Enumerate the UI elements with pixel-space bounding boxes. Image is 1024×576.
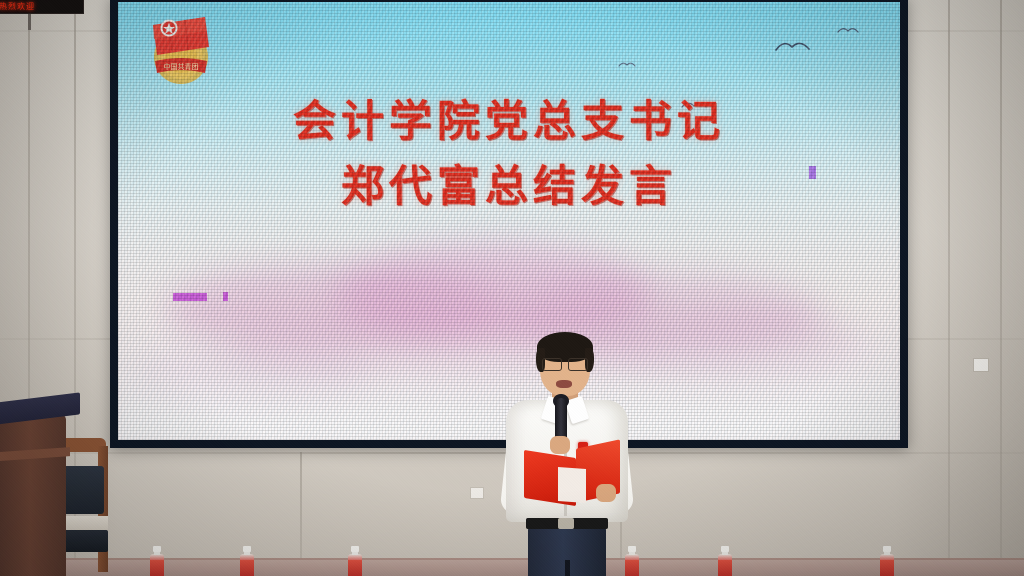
- bird-icon: [618, 59, 636, 69]
- belt-buckle: [558, 518, 574, 529]
- red-led-scrolling-sign: 热烈欢迎: [0, 0, 84, 14]
- wall-outlet: [470, 487, 484, 499]
- presenter-mouth: [556, 380, 572, 388]
- screen-glitch-block: [223, 292, 228, 301]
- bottle-label: [240, 560, 254, 576]
- presenter-hand-right: [596, 484, 616, 502]
- led-sign-mount: [28, 14, 31, 30]
- bird-icon: [837, 24, 859, 36]
- lectern: [0, 398, 80, 576]
- bottle-label: [348, 560, 362, 576]
- presenter-hand-left: [550, 436, 570, 454]
- lectern-body: [0, 414, 66, 576]
- bottle-label: [880, 560, 894, 576]
- communist-youth-league-emblem: 中国共青团: [145, 9, 217, 91]
- wall-seam: [948, 0, 950, 576]
- led-sign-text: 热烈欢迎: [0, 1, 35, 12]
- water-bottle: [150, 546, 164, 576]
- water-bottle: [348, 546, 362, 576]
- wall-shadow-right: [894, 0, 1024, 576]
- glasses-icon: [542, 358, 588, 369]
- wall-outlet: [973, 358, 989, 372]
- water-bottle: [880, 546, 894, 576]
- folder-paper: [558, 467, 586, 503]
- bottle-cap: [243, 546, 251, 552]
- presenter: [492, 332, 642, 576]
- wall-seam: [1000, 0, 1002, 576]
- bottle-cap: [153, 546, 161, 552]
- bottle-cap: [883, 546, 891, 552]
- screen-glitch-block: [173, 293, 207, 301]
- water-bottle: [240, 546, 254, 576]
- emblem-banner-text: 中国共青团: [163, 62, 198, 71]
- bottle-label: [718, 560, 732, 576]
- screen-title-line-1: 会计学院党总支书记: [118, 90, 900, 155]
- bottle-cap: [351, 546, 359, 552]
- bird-icon: [775, 37, 811, 55]
- water-bottle: [718, 546, 732, 576]
- bottle-cap: [721, 546, 729, 552]
- bottle-label: [150, 560, 164, 576]
- screen-title-block: 会计学院党总支书记 郑代富总结发言: [118, 90, 900, 221]
- screen-title-line-2: 郑代富总结发言: [118, 155, 900, 220]
- conference-hall-scene: 热烈欢迎: [0, 0, 1024, 576]
- trouser-seam: [565, 560, 570, 576]
